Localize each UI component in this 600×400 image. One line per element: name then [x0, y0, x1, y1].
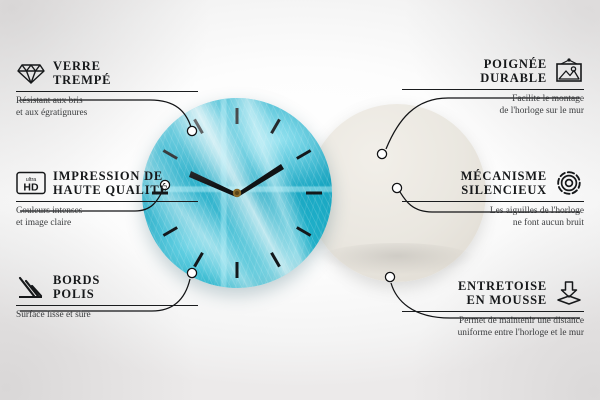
feature-bords-polis: BORDS POLIS Surface lisse et sûre [16, 272, 198, 321]
divider [402, 89, 584, 90]
feature-title: POIGNÉE DURABLE [402, 57, 547, 86]
title-line-2: POLIS [53, 287, 198, 301]
feature-description: Surface lisse et sûre [16, 309, 198, 321]
polished-edges-icon [16, 272, 46, 302]
feature-description: Couleurs intenses et image claire [16, 205, 198, 230]
foam-spacer-arrow-icon [554, 278, 584, 308]
gear-icon [554, 168, 584, 198]
title-line-2: TREMPÉ [53, 73, 198, 87]
feature-description: Facilite le montage de l'horloge sur le … [402, 93, 584, 118]
picture-frame-hanger-icon [554, 56, 584, 86]
feature-title: MÉCANISME SILENCIEUX [402, 169, 547, 198]
title-line-1: BORDS [53, 273, 198, 287]
title-line-2: SILENCIEUX [402, 183, 547, 197]
divider [16, 305, 198, 306]
title-line-1: VERRE [53, 59, 198, 73]
feature-impression-haute-qualite: ultra HD IMPRESSION DE HAUTE QUALITÉ Cou… [16, 168, 198, 230]
title-line-1: IMPRESSION DE [53, 169, 198, 183]
infographic-canvas: VERRE TREMPÉ Résistant aux bris et aux é… [0, 0, 600, 400]
divider [402, 201, 584, 202]
title-line-2: HAUTE QUALITÉ [53, 183, 198, 197]
feature-title: VERRE TREMPÉ [53, 59, 198, 88]
divider [402, 311, 584, 312]
divider [16, 91, 198, 92]
feature-title: BORDS POLIS [53, 273, 198, 302]
title-line-2: DURABLE [402, 71, 547, 85]
title-line-1: ENTRETOISE [402, 279, 547, 293]
svg-text:HD: HD [23, 182, 39, 194]
diamond-icon [16, 58, 46, 88]
clock-hands [189, 164, 284, 197]
feature-mecanisme-silencieux: MÉCANISME SILENCIEUX Les aiguilles de l'… [402, 168, 584, 230]
divider [16, 201, 198, 202]
feature-description: Résistant aux bris et aux égratignures [16, 95, 198, 120]
feature-poignee-durable: POIGNÉE DURABLE Facilite le montage de l… [402, 56, 584, 118]
title-line-1: MÉCANISME [402, 169, 547, 183]
feature-entretoise-en-mousse: ENTRETOISE EN MOUSSE Permet de maintenir… [402, 278, 584, 340]
ultra-hd-icon: ultra HD [16, 168, 46, 198]
feature-title: ENTRETOISE EN MOUSSE [402, 279, 547, 308]
feature-description: Les aiguilles de l'horloge ne font aucun… [402, 205, 584, 230]
feature-title: IMPRESSION DE HAUTE QUALITÉ [53, 169, 198, 198]
title-line-1: POIGNÉE [402, 57, 547, 71]
title-line-2: EN MOUSSE [402, 293, 547, 307]
feature-description: Permet de maintenir une distance uniform… [402, 315, 584, 340]
feature-verre-trempe: VERRE TREMPÉ Résistant aux bris et aux é… [16, 58, 198, 120]
